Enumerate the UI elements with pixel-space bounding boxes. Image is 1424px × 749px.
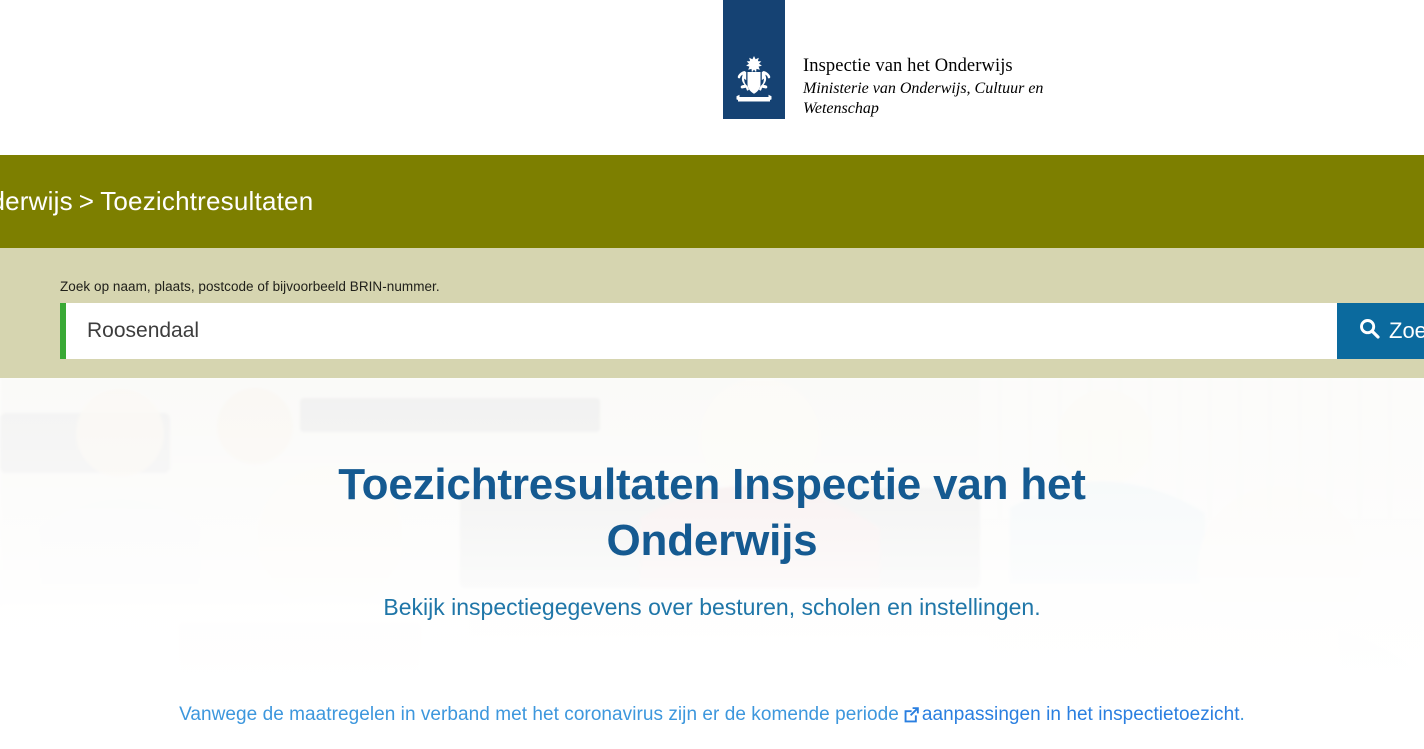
breadcrumb-bar: Inspectie van het Onderwijs>Toezichtresu… [0,155,1424,248]
breadcrumb: Inspectie van het Onderwijs>Toezichtresu… [0,186,313,217]
search-icon [1359,318,1380,345]
inspection-adjustments-link[interactable]: aanpassingen in het inspectietoezicht [922,704,1240,725]
notice-text-after: . [1240,704,1245,725]
logo-text-block: Inspectie van het Onderwijs Ministerie v… [785,0,1053,120]
logo-blue-bar [723,0,785,119]
page-subtitle: Bekijk inspectiegegevens over besturen, … [0,594,1424,621]
page-root: Inspectie van het Onderwijs Ministerie v… [0,0,1424,749]
ministry-name: Ministerie van Onderwijs, Cultuur en Wet… [803,79,1053,121]
search-label: Zoek op naam, plaats, postcode of bijvoo… [60,279,440,294]
search-field[interactable] [60,303,1337,359]
site-logo[interactable]: Inspectie van het Onderwijs Ministerie v… [723,0,1053,120]
search-input[interactable] [66,303,1337,359]
hero-content: Toezichtresultaten Inspectie van het Ond… [0,378,1424,621]
search-row: Zoeken [60,303,1424,359]
notice-text-before: Vanwege de maatregelen in verband met he… [179,704,899,725]
search-button-label: Zoeken [1389,318,1424,344]
notice-line: Vanwege de maatregelen in verband met he… [179,704,1245,729]
external-link-icon [903,706,920,729]
hero-section: Toezichtresultaten Inspectie van het Ond… [0,378,1424,683]
page-title: Toezichtresultaten Inspectie van het Ond… [282,378,1142,570]
search-panel: Zoek op naam, plaats, postcode of bijvoo… [0,248,1424,378]
breadcrumb-separator: > [73,186,100,216]
organisation-name: Inspectie van het Onderwijs [803,55,1053,79]
breadcrumb-item-parent[interactable]: Inspectie van het Onderwijs [0,186,73,216]
breadcrumb-item-current: Toezichtresultaten [100,186,313,216]
corona-notice: Vanwege de maatregelen in verband met he… [0,683,1424,749]
masthead: Inspectie van het Onderwijs Ministerie v… [0,0,1424,155]
search-button[interactable]: Zoeken [1337,303,1424,359]
